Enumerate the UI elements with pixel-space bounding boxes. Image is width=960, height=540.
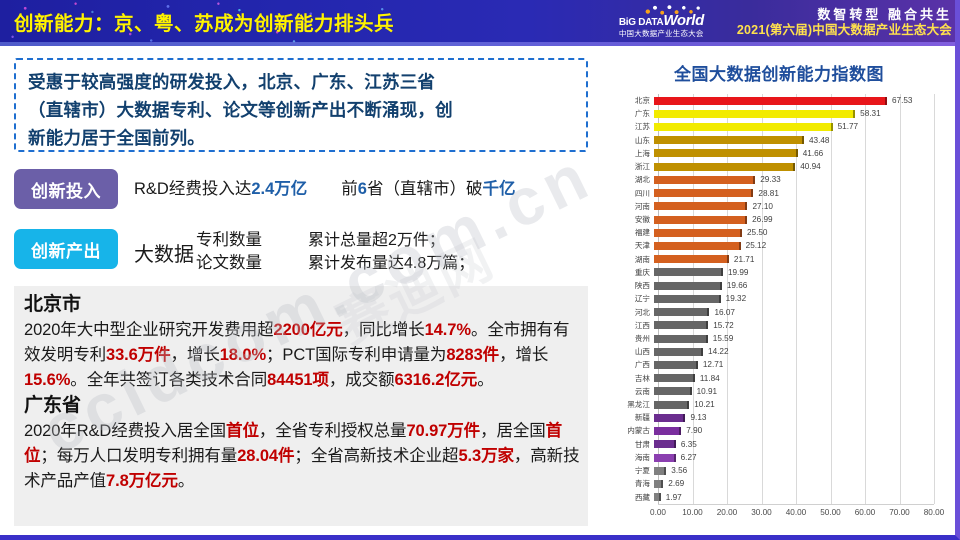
body-text: 。 (178, 472, 194, 490)
top6-mid: 省（直辖市）破 (367, 180, 483, 198)
chart-value-label: 6.35 (681, 438, 697, 451)
chart-value-label: 3.56 (671, 464, 687, 477)
innovation-output-detail: 大数据 专利数量 论文数量 累计总量超2万件； 累计发布量达4.8万篇； (134, 229, 474, 275)
chart-bar-row: 重庆19.99 (614, 266, 944, 279)
chart-category-label: 陕西 (614, 279, 654, 292)
chart-category-label: 海南 (614, 451, 654, 464)
chart-category-label: 河北 (614, 306, 654, 319)
slogan-line-2: 2021(第六届)中国大数据产业生态大会 (737, 23, 952, 39)
chart-bar-track: 12.71 (654, 358, 944, 371)
chart-bar-row: 吉林11.84 (614, 372, 944, 385)
chart-bar-cap (796, 149, 798, 157)
chart-bar-track: 1.97 (654, 491, 944, 504)
chart-bar-cap (753, 176, 755, 184)
chart-value-label: 6.27 (681, 451, 697, 464)
chart-bar (654, 321, 708, 329)
chart-bar-row: 青海2.69 (614, 477, 944, 490)
chart-category-label: 浙江 (614, 160, 654, 173)
stat-highlight: 5.3万家 (458, 447, 513, 465)
chart-bar-cap (679, 427, 681, 435)
chart-bar (654, 123, 833, 131)
top6-count: 6 (358, 180, 367, 198)
chart-bar-cap (720, 282, 722, 290)
stat-highlight: 18.0% (220, 346, 266, 364)
x-axis-line (658, 504, 934, 505)
x-tick-label: 80.00 (924, 508, 945, 517)
chart-bar-row: 湖南21.71 (614, 253, 944, 266)
chart-value-label: 15.72 (713, 319, 734, 332)
stat-highlight: 15.6% (24, 371, 70, 389)
chart-bar-cap (885, 97, 887, 105)
chart-bar-cap (659, 493, 661, 501)
body-text: ，增长 (499, 346, 548, 364)
logo-bigdata-text: BiG DATA (619, 17, 663, 28)
chart-bar-row: 甘肃6.35 (614, 438, 944, 451)
chart-value-label: 19.99 (728, 266, 749, 279)
chart-bar-row: 山东43.48 (614, 134, 944, 147)
chart-bar (654, 374, 695, 382)
chart-value-label: 43.48 (809, 134, 830, 147)
header-right-group: BiG DATAWorld 中国大数据产业生态大会 数智转型 融合共生 2021… (619, 2, 952, 44)
chart-category-label: 重庆 (614, 266, 654, 279)
logo-line-2: 中国大数据产业生态大会 (619, 28, 723, 39)
chart-category-label: 河南 (614, 200, 654, 213)
chart-bar (654, 255, 729, 263)
chart-value-label: 21.71 (734, 253, 755, 266)
chart-bar (654, 229, 742, 237)
chart-category-label: 青海 (614, 477, 654, 490)
chart-bar-cap (751, 189, 753, 197)
chart-bar-cap (674, 440, 676, 448)
x-tick-label: 30.00 (751, 508, 772, 517)
stat-highlight: 8283件 (446, 346, 499, 364)
chart-bar-cap (802, 136, 804, 144)
body-text: 2020年大中型企业研究开发费用超 (24, 321, 274, 339)
chart-category-label: 西藏 (614, 491, 654, 504)
chart-bar-track: 28.81 (654, 187, 944, 200)
chart-value-label: 10.91 (697, 385, 718, 398)
chart-bar (654, 242, 741, 250)
chart-bar-track: 26.99 (654, 213, 944, 226)
chart-value-label: 26.99 (752, 213, 773, 226)
innovation-input-text: R&D经费投入达2.4万亿前6省（直辖市）破千亿 (134, 169, 515, 209)
chart-bar (654, 454, 676, 462)
chart-bar-cap (739, 242, 741, 250)
chart-category-label: 安徽 (614, 213, 654, 226)
chart-bar (654, 335, 708, 343)
output-metric-values: 累计总量超2万件； 累计发布量达4.8万篇； (308, 229, 474, 275)
slogan-line-1: 数智转型 融合共生 (737, 7, 952, 23)
chart-value-label: 7.90 (686, 424, 702, 437)
slide-root: 创新能力：京、粤、苏成为创新能力排头兵 BiG DATAWorld 中国大数据产… (0, 0, 960, 540)
stat-highlight: 首位 (226, 422, 259, 440)
callout-line-2: （直辖市）大数据专利、论文等创新产出不断涌现，创 (28, 96, 576, 124)
rd-spend-prefix: R&D经费投入达 (134, 180, 251, 198)
stat-highlight: 2200亿元 (274, 321, 343, 339)
chart-bar-track: 15.59 (654, 332, 944, 345)
left-content-panel: 受惠于较高强度的研发投入，北京、广东、江苏三省 （直辖市）大数据专利、论文等创新… (0, 46, 604, 540)
rd-spend-value: 2.4万亿 (251, 180, 307, 198)
chart-bar-row: 内蒙古7.90 (614, 424, 944, 437)
chart-bar-cap (690, 387, 692, 395)
callout-line-3: 新能力居于全国前列。 (28, 124, 576, 152)
chart-bar-row: 云南10.91 (614, 385, 944, 398)
chart-bar-cap (683, 414, 685, 422)
chart-bar-cap (696, 361, 698, 369)
chart-category-label: 云南 (614, 385, 654, 398)
chart-bar-row: 福建25.50 (614, 226, 944, 239)
chart-bar-row: 山西14.22 (614, 345, 944, 358)
chart-bar-cap (664, 467, 666, 475)
chart-bar (654, 467, 666, 475)
chart-bar-cap (687, 401, 689, 409)
chart-category-label: 江苏 (614, 120, 654, 133)
top6-prefix: 前 (341, 180, 358, 198)
chart-value-label: 16.07 (714, 306, 735, 319)
body-text: 。 (477, 371, 493, 389)
chart-bar-row: 湖北29.33 (614, 173, 944, 186)
chart-value-label: 9.13 (690, 411, 706, 424)
chart-category-label: 山西 (614, 345, 654, 358)
chart-bar-cap (693, 374, 695, 382)
chart-bar-track: 51.77 (654, 120, 944, 133)
body-text: ，居全国 (480, 422, 546, 440)
chart-value-label: 29.33 (760, 173, 781, 186)
chart-bar-row: 河北16.07 (614, 306, 944, 319)
chart-bar-cap (793, 163, 795, 171)
chart-bar (654, 149, 798, 157)
chart-bar (654, 493, 661, 501)
bigdata-label: 大数据 (134, 238, 194, 267)
chart-bar-cap (721, 268, 723, 276)
chart-bar (654, 361, 698, 369)
chart-bar (654, 216, 747, 224)
chart-value-label: 12.71 (703, 358, 724, 371)
chart-bar (654, 427, 681, 435)
chart-bar-row: 黑龙江10.21 (614, 398, 944, 411)
chart-category-label: 山东 (614, 134, 654, 147)
badge-innovation-output: 创新产出 (14, 229, 118, 269)
x-tick-label: 40.00 (786, 508, 807, 517)
chart-value-label: 15.59 (713, 332, 734, 345)
chart-bar (654, 268, 723, 276)
body-text: ，增长 (171, 346, 220, 364)
chart-value-label: 19.32 (726, 292, 747, 305)
chart-bar-rows: 北京67.53广东58.31江苏51.77山东43.48上海41.66浙江40.… (614, 94, 944, 504)
province-title-beijing: 北京市 (24, 292, 580, 318)
chart-bar-track: 15.72 (654, 319, 944, 332)
chart-bar-track: 21.71 (654, 253, 944, 266)
chart-bar-track: 10.21 (654, 398, 944, 411)
chart-category-label: 广东 (614, 107, 654, 120)
chart-panel: 全国大数据创新能力指数图 北京67.53广东58.31江苏51.77山东43.4… (604, 46, 954, 540)
chart-bar-cap (831, 123, 833, 131)
stat-highlight: 14.7% (425, 321, 471, 339)
chart-bar-row: 浙江40.94 (614, 160, 944, 173)
chart-bar (654, 401, 689, 409)
chart-bar-track: 9.13 (654, 411, 944, 424)
chart-bar-track: 41.66 (654, 147, 944, 160)
chart-bar-track: 19.66 (654, 279, 944, 292)
chart-bar-cap (740, 229, 742, 237)
chart-value-label: 51.77 (838, 120, 859, 133)
chart-bar-row: 新疆9.13 (614, 411, 944, 424)
chart-category-label: 湖南 (614, 253, 654, 266)
chart-bar-cap (674, 454, 676, 462)
chart-category-label: 内蒙古 (614, 424, 654, 437)
chart-bar (654, 202, 747, 210)
chart-bar-row: 西藏1.97 (614, 491, 944, 504)
chart-category-label: 广西 (614, 358, 654, 371)
x-tick-label: 10.00 (682, 508, 703, 517)
chart-bar (654, 387, 692, 395)
metric-patent-value: 累计总量超2万件； (308, 229, 474, 252)
chart-category-label: 新疆 (614, 411, 654, 424)
chart-bar-row: 辽宁19.32 (614, 292, 944, 305)
chart-bar-track: 14.22 (654, 345, 944, 358)
chart-category-label: 湖北 (614, 173, 654, 186)
chart-bar-cap (745, 202, 747, 210)
chart-category-label: 黑龙江 (614, 398, 654, 411)
x-tick-label: 70.00 (889, 508, 910, 517)
top6-threshold: 千亿 (482, 180, 515, 198)
chart-bar-row: 安徽26.99 (614, 213, 944, 226)
metric-paper-value: 累计发布量达4.8万篇； (308, 252, 474, 275)
chart-bar (654, 480, 663, 488)
chart-bar-track: 25.50 (654, 226, 944, 239)
chart-category-label: 宁夏 (614, 464, 654, 477)
chart-bar-track: 19.32 (654, 292, 944, 305)
chart-bar-row: 江苏51.77 (614, 120, 944, 133)
chart-bar-track: 3.56 (654, 464, 944, 477)
metric-patent-count: 专利数量 (196, 229, 262, 252)
metric-paper-count: 论文数量 (196, 252, 262, 275)
chart-value-label: 14.22 (708, 345, 729, 358)
chart-bar (654, 110, 855, 118)
chart-bar-track: 29.33 (654, 173, 944, 186)
chart-bar-row: 上海41.66 (614, 147, 944, 160)
slide-header: 创新能力：京、粤、苏成为创新能力排头兵 BiG DATAWorld 中国大数据产… (0, 0, 960, 46)
chart-bar-track: 11.84 (654, 372, 944, 385)
body-text: ；每万人口发明专利拥有量 (40, 447, 237, 465)
chart-bar (654, 348, 703, 356)
chart-bar-row: 贵州15.59 (614, 332, 944, 345)
chart-value-label: 58.31 (860, 107, 881, 120)
chart-bar (654, 295, 721, 303)
chart-value-label: 41.66 (803, 147, 824, 160)
chart-value-label: 28.81 (758, 187, 779, 200)
body-text: 2020年R&D经费投入居全国 (24, 422, 226, 440)
chart-bar-track: 16.07 (654, 306, 944, 319)
chart-bar-track: 19.99 (654, 266, 944, 279)
body-text: ，同比增长 (343, 321, 425, 339)
chart-bar-track: 2.69 (654, 477, 944, 490)
chart-bar-cap (701, 348, 703, 356)
chart-value-label: 40.94 (800, 160, 821, 173)
chart-bar-row: 北京67.53 (614, 94, 944, 107)
chart-bar-row: 陕西19.66 (614, 279, 944, 292)
chart-bar-row: 河南27.10 (614, 200, 944, 213)
logo-world-text: World (663, 12, 704, 29)
chart-category-label: 辽宁 (614, 292, 654, 305)
chart-value-label: 2.69 (668, 477, 684, 490)
chart-bar (654, 282, 722, 290)
stat-highlight: 84451项 (267, 371, 329, 389)
chart-bar-row: 广东58.31 (614, 107, 944, 120)
province-title-guangdong: 广东省 (24, 393, 580, 419)
chart-value-label: 25.12 (746, 239, 767, 252)
chart-value-label: 10.21 (694, 398, 715, 411)
chart-bar-track: 6.27 (654, 451, 944, 464)
x-tick-label: 60.00 (855, 508, 876, 517)
chart-title: 全国大数据创新能力指数图 (604, 60, 954, 85)
chart-bar-cap (745, 216, 747, 224)
chart-bar-cap (719, 295, 721, 303)
chart-category-label: 天津 (614, 239, 654, 252)
innovation-input-row: 创新投入 R&D经费投入达2.4万亿前6省（直辖市）破千亿 (14, 169, 594, 209)
chart-category-label: 甘肃 (614, 438, 654, 451)
callout-line-1: 受惠于较高强度的研发投入，北京、广东、江苏三省 (28, 68, 576, 96)
province-body-guangdong: 2020年R&D经费投入居全国首位，全省专利授权总量70.97万件，居全国首位；… (24, 419, 580, 494)
chart-bar-track: 58.31 (654, 107, 944, 120)
callout-box: 受惠于较高强度的研发投入，北京、广东、江苏三省 （直辖市）大数据专利、论文等创新… (14, 58, 588, 152)
stat-highlight: 6316.2亿元 (395, 371, 478, 389)
chart-bar-track: 10.91 (654, 385, 944, 398)
chart-bar-row: 广西12.71 (614, 358, 944, 371)
chart-bar (654, 308, 709, 316)
chart-bar-row: 四川28.81 (614, 187, 944, 200)
chart-bar (654, 97, 887, 105)
chart-bar (654, 414, 685, 422)
chart-category-label: 北京 (614, 94, 654, 107)
chart-bar-track: 27.10 (654, 200, 944, 213)
chart-bar-track: 43.48 (654, 134, 944, 147)
chart-bar-track: 7.90 (654, 424, 944, 437)
chart-bar-cap (706, 321, 708, 329)
chart-value-label: 67.53 (892, 94, 913, 107)
chart-bar (654, 176, 755, 184)
page-title: 创新能力：京、粤、苏成为创新能力排头兵 (14, 7, 394, 36)
chart-category-label: 上海 (614, 147, 654, 160)
chart-bar (654, 136, 804, 144)
chart-value-label: 25.50 (747, 226, 768, 239)
chart-bar (654, 189, 753, 197)
chart-category-label: 四川 (614, 187, 654, 200)
chart-category-label: 福建 (614, 226, 654, 239)
chart-bar-row: 天津25.12 (614, 239, 944, 252)
chart-value-label: 27.10 (752, 200, 773, 213)
chart-category-label: 江西 (614, 319, 654, 332)
logo-line-1: BiG DATAWorld (619, 14, 723, 29)
badge-innovation-input: 创新投入 (14, 169, 118, 209)
output-metric-names: 专利数量 论文数量 (196, 229, 262, 275)
body-text: ；全省高新技术企业超 (294, 447, 458, 465)
province-detail-panel: 北京市 2020年大中型企业研究开发费用超2200亿元，同比增长14.7%。全市… (14, 286, 588, 526)
chart-bar-track: 67.53 (654, 94, 944, 107)
chart-bar-track: 25.12 (654, 239, 944, 252)
chart-plot-area: 北京67.53广东58.31江苏51.77山东43.48上海41.66浙江40.… (614, 94, 944, 536)
chart-bar-row: 海南6.27 (614, 451, 944, 464)
body-text: 。全年共签订各类技术合同 (70, 371, 267, 389)
chart-value-label: 11.84 (700, 372, 720, 385)
chart-bar-cap (853, 110, 855, 118)
chart-bar-track: 40.94 (654, 160, 944, 173)
chart-bar-cap (661, 480, 663, 488)
stat-highlight: 7.8万亿元 (106, 472, 178, 490)
stat-highlight: 70.97万件 (406, 422, 480, 440)
body-text: ；PCT国际专利申请量为 (266, 346, 446, 364)
chart-bar-row: 宁夏3.56 (614, 464, 944, 477)
x-tick-label: 50.00 (820, 508, 841, 517)
innovation-output-row: 创新产出 大数据 专利数量 论文数量 累计总量超2万件； 累计发布量达4.8万篇… (14, 229, 594, 275)
chart-x-axis: 0.0010.0020.0030.0040.0050.0060.0070.008… (658, 504, 934, 526)
stat-highlight: 33.6万件 (106, 346, 171, 364)
chart-bar-row: 江西15.72 (614, 319, 944, 332)
chart-bar-cap (706, 335, 708, 343)
body-text: ，全省专利授权总量 (259, 422, 407, 440)
province-body-beijing: 2020年大中型企业研究开发费用超2200亿元，同比增长14.7%。全市拥有有效… (24, 318, 580, 393)
header-slogan: 数智转型 融合共生 2021(第六届)中国大数据产业生态大会 (737, 7, 952, 39)
x-tick-label: 20.00 (717, 508, 738, 517)
chart-category-label: 贵州 (614, 332, 654, 345)
chart-bar (654, 163, 795, 171)
body-text: ，成交额 (329, 371, 395, 389)
chart-bar-cap (707, 308, 709, 316)
big-data-world-logo: BiG DATAWorld 中国大数据产业生态大会 (619, 4, 723, 42)
chart-category-label: 吉林 (614, 372, 654, 385)
x-tick-label: 0.00 (650, 508, 666, 517)
chart-bar-cap (727, 255, 729, 263)
chart-value-label: 19.66 (727, 279, 748, 292)
chart-bar-track: 6.35 (654, 438, 944, 451)
chart-value-label: 1.97 (666, 491, 682, 504)
stat-highlight: 28.04件 (237, 447, 294, 465)
chart-bar (654, 440, 676, 448)
